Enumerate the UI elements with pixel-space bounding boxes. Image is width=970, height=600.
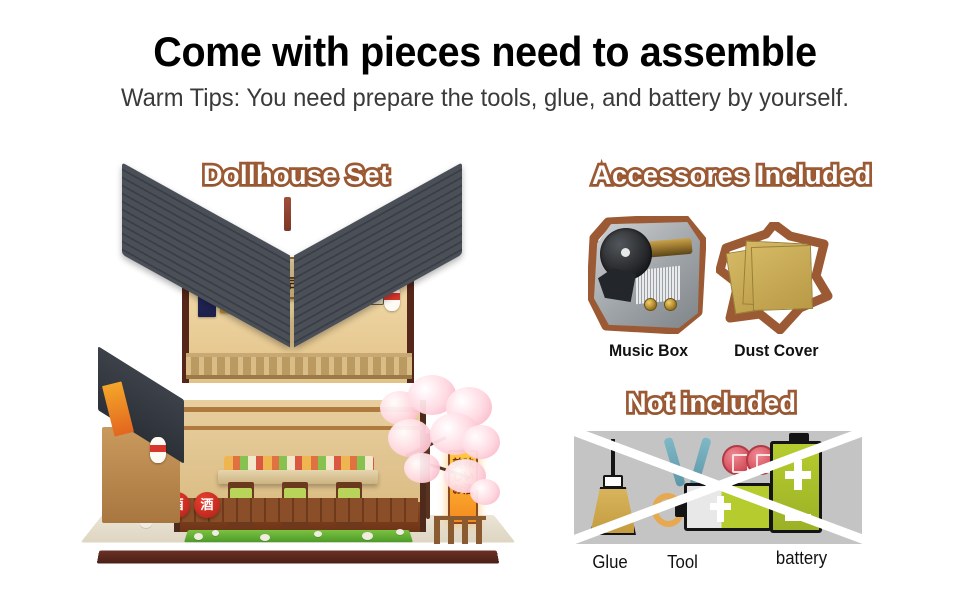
not-included-panel <box>574 431 862 544</box>
dollhouse-sake-lantern: 酒 <box>194 492 220 518</box>
music-box-image <box>588 216 706 334</box>
warm-tips-subtitle: Warm Tips: You need prepare the tools, g… <box>24 84 946 113</box>
dollhouse-pebble <box>260 534 270 541</box>
page-title: Come with pieces need to assemble <box>29 28 941 76</box>
battery-caption: battery <box>776 548 827 569</box>
dollhouse-pebble <box>314 531 322 537</box>
dust-cover-sheet <box>751 245 813 311</box>
tool-caption: Tool <box>667 552 698 573</box>
dollhouse-pebble <box>362 532 373 540</box>
glue-caption: Glue <box>592 552 627 573</box>
cherry-blossom-cluster <box>462 425 500 459</box>
music-box-caption: Music Box <box>609 341 688 361</box>
glue-cap <box>603 475 623 488</box>
cherry-blossom-cluster <box>470 479 500 505</box>
not-included-heading: Not included <box>627 388 797 419</box>
dollhouse-pebble <box>396 529 404 535</box>
plus-sign-icon <box>785 471 811 479</box>
music-box-brass-screw <box>644 298 657 311</box>
header: Come with pieces need to assemble Warm T… <box>0 0 970 113</box>
dust-cover-caption: Dust Cover <box>734 341 818 361</box>
cherry-blossom-cluster <box>388 419 432 457</box>
music-box-brass-screw <box>664 298 677 311</box>
dollhouse-cherry-tree <box>374 373 502 523</box>
plus-sign-icon <box>710 503 731 510</box>
dollhouse-paper-lantern <box>150 437 166 463</box>
dust-cover-image <box>716 222 836 334</box>
dollhouse-pebble <box>194 533 203 540</box>
dollhouse-product-photo: 酒 酒 美味しいお酒 sushi 吉本寿司 <box>78 205 508 580</box>
accessories-included-heading: Accessores Included <box>592 160 872 191</box>
dollhouse-set-heading: Dollhouse Set <box>203 160 390 191</box>
dollhouse-base-edge <box>97 551 500 564</box>
dollhouse-balcony-railing <box>186 353 412 379</box>
cherry-blossom-cluster <box>404 453 440 483</box>
dollhouse-roof-ridge <box>284 197 291 231</box>
dollhouse-pebble <box>212 530 219 536</box>
